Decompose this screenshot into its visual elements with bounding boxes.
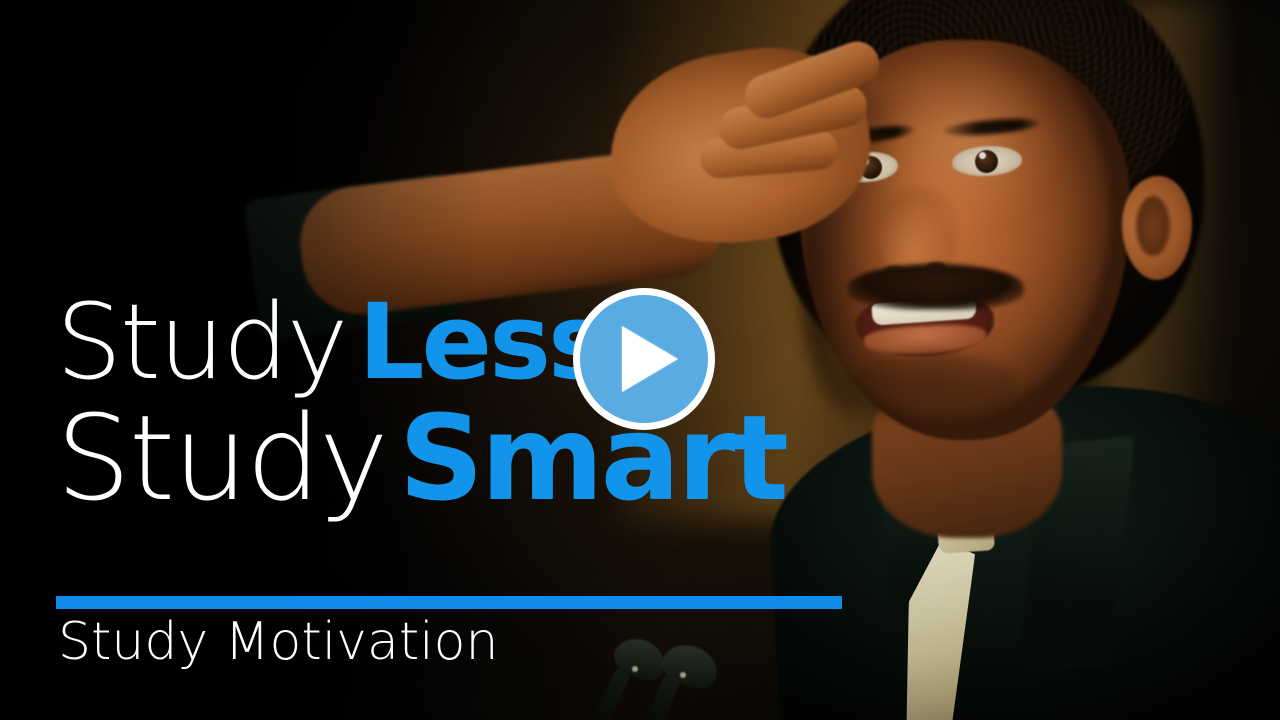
- title-line-2-thin-word: Study: [56, 389, 387, 527]
- video-thumbnail[interactable]: StudyLess StudySmart Study Motivation: [0, 0, 1280, 720]
- microphone-led-2: [680, 672, 686, 678]
- title-line-2-bold-word: Smart: [399, 389, 786, 527]
- subtitle-text: Study Motivation: [58, 612, 498, 672]
- microphone-led-1: [632, 666, 638, 672]
- title-line-1-thin-word: Study: [56, 281, 346, 403]
- ear-inner: [1136, 196, 1170, 256]
- play-triangle-icon: [622, 326, 678, 392]
- title-underline-bar: [56, 596, 842, 609]
- title-line-1-bold-word: Less: [358, 281, 607, 403]
- chin-shadow: [846, 352, 1018, 422]
- eye-glint-right: [979, 152, 986, 159]
- play-button[interactable]: [573, 288, 715, 430]
- moustache: [848, 264, 1024, 310]
